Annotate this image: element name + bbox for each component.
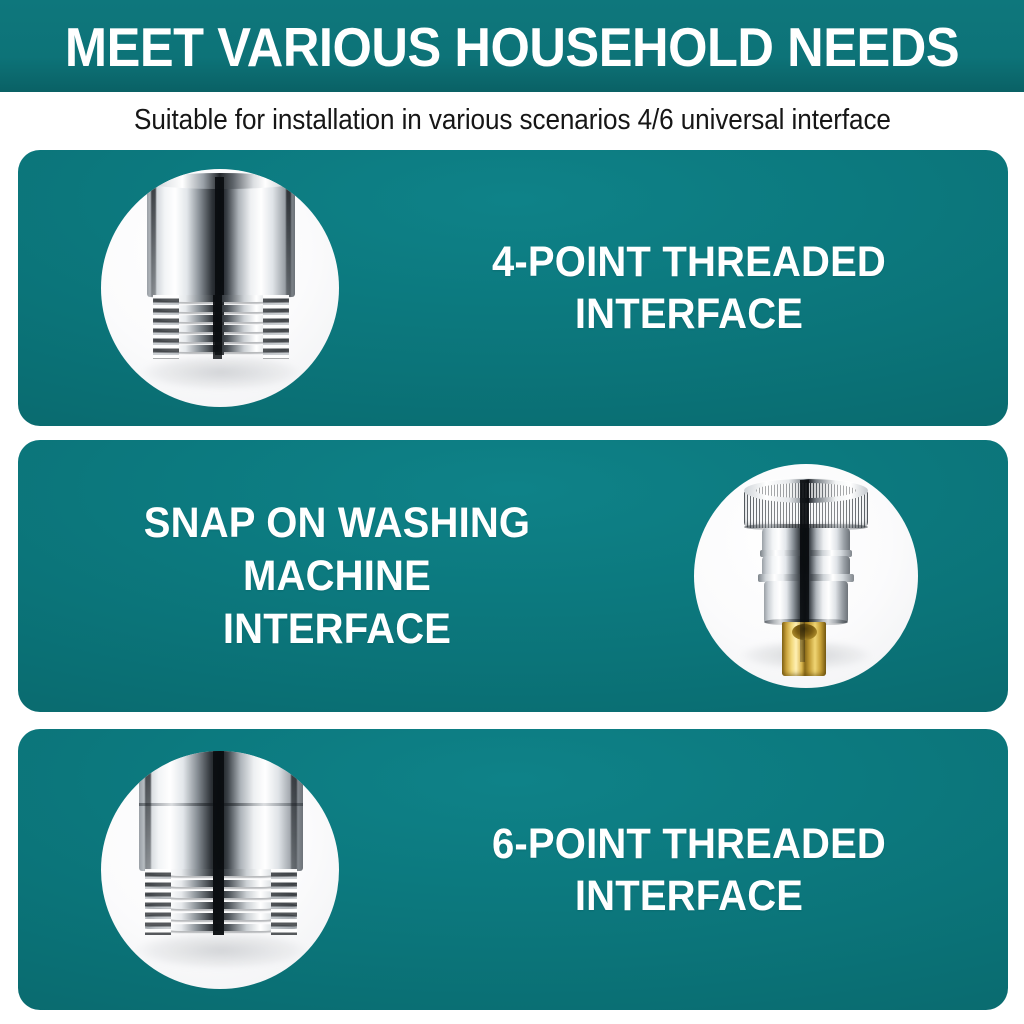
- chrome-threaded-fitting-icon: [101, 169, 339, 407]
- feature-card-four-point: 4-POINT THREADED INTERFACE: [18, 150, 1008, 426]
- subtitle-row: Suitable for installation in various sce…: [0, 92, 1024, 148]
- chrome-threaded-fitting-icon: [101, 751, 339, 989]
- snap-on-connector-icon: [694, 464, 918, 688]
- header-band: MEET VARIOUS HOUSEHOLD NEEDS: [0, 0, 1024, 92]
- page-title: MEET VARIOUS HOUSEHOLD NEEDS: [65, 18, 959, 76]
- product-photo-circle: [101, 751, 339, 989]
- subtitle-text: Suitable for installation in various sce…: [134, 104, 891, 136]
- feature-card-six-point: 6-POINT THREADED INTERFACE: [18, 729, 1008, 1010]
- product-image-six-point: [70, 751, 370, 989]
- product-photo-circle: [694, 464, 918, 688]
- feature-label-snap-on-line2: INTERFACE: [53, 603, 620, 656]
- feature-label-four-point: 4-POINT THREADED INTERFACE: [392, 236, 985, 340]
- feature-card-snap-on-washing-machine: SNAP ON WASHING MACHINE INTERFACE: [18, 440, 1008, 712]
- feature-label-snap-on: SNAP ON WASHING MACHINE INTERFACE: [40, 497, 633, 656]
- product-photo-circle: [101, 169, 339, 407]
- feature-label-six-point: 6-POINT THREADED INTERFACE: [392, 818, 985, 922]
- feature-label-snap-on-line1: SNAP ON WASHING MACHINE: [53, 497, 620, 603]
- product-image-four-point: [70, 169, 370, 407]
- product-image-snap-on: [656, 464, 956, 688]
